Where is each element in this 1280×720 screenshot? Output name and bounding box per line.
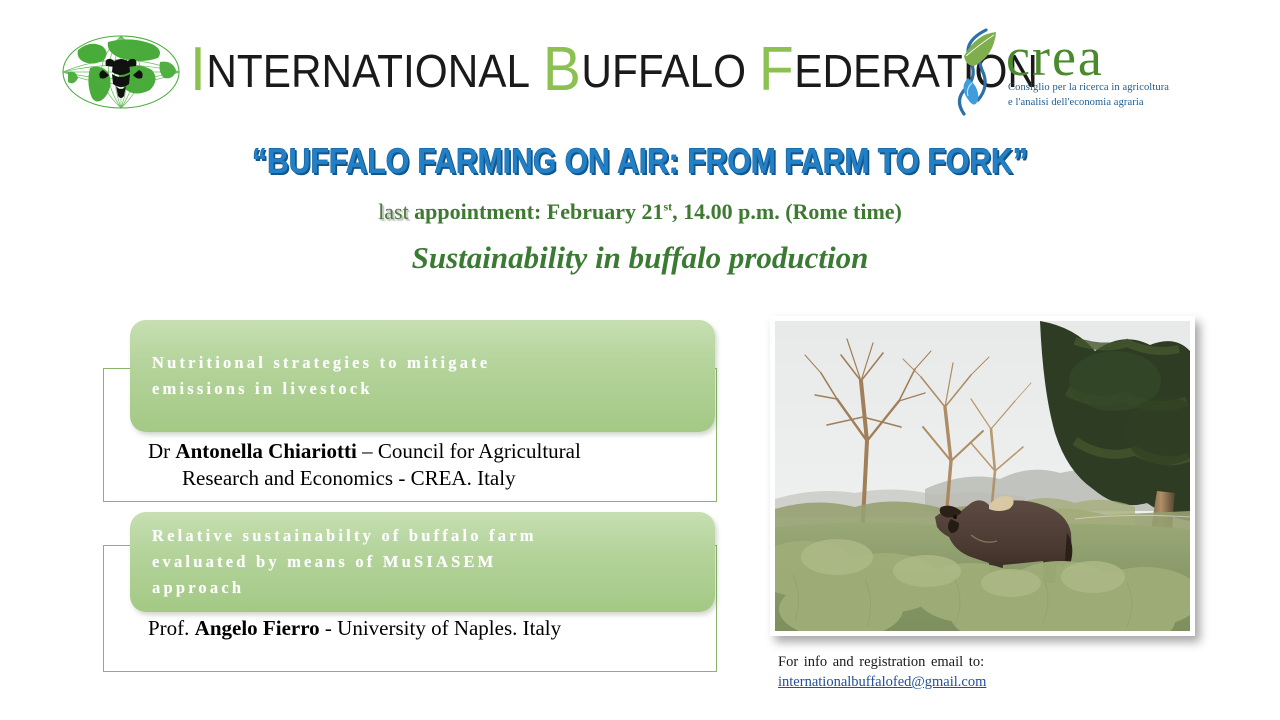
speaker-2-prefix: Prof.: [148, 616, 195, 640]
contact-info: For info and registration email to: inte…: [778, 652, 1198, 692]
subtitle-label: appointment:: [409, 199, 547, 224]
session-title: Sustainability in buffalo production: [0, 240, 1280, 276]
subtitle-date-suffix: st: [663, 200, 672, 214]
crea-tagline-line2: e l'analisi dell'economia agraria: [1008, 97, 1144, 108]
ibf-wordmark: INTERNATIONALBUFFALOFEDERATION: [190, 38, 1038, 102]
topic-1-line-2: emissions in livestock: [152, 376, 490, 402]
speaker-2-name: Angelo Fierro: [195, 616, 320, 640]
subtitle-date: February 21: [547, 199, 664, 224]
ibf-cap-b: B: [543, 35, 582, 104]
topic-1-line-1: Nutritional strategies to mitigate: [152, 350, 490, 376]
topic-2-line-2: evaluated by means of MuSIASEM: [152, 549, 537, 575]
crea-leaf-droplet-icon: [948, 26, 1010, 118]
contact-email-link[interactable]: internationalbuffalofed@gmail.com: [778, 672, 1198, 692]
buffalo-photo-frame: [770, 316, 1195, 636]
speaker-1: Dr Antonella Chiariotti – Council for Ag…: [148, 438, 708, 492]
topic-2-line-1: Relative sustainabilty of buffalo farm: [152, 523, 537, 549]
speaker-2-affiliation-line1: - University of Naples. Italy: [320, 616, 561, 640]
globe-buffalo-icon: [60, 28, 182, 116]
speaker-1-affiliation-line2: Research and Economics - CREA. Italy: [148, 465, 708, 492]
contact-label: For info and registration email to:: [778, 654, 984, 670]
subtitle-time: , 14.00 p.m. (Rome time): [672, 199, 902, 224]
ibf-word-buffalo: UFFALO: [581, 45, 746, 97]
appointment-subtitle: last appointment: February 21st, 14.00 p…: [0, 199, 1280, 225]
speaker-1-prefix: Dr: [148, 439, 175, 463]
crea-logo: crea Consiglio per la ricerca in agricol…: [948, 24, 1156, 120]
crea-wordmark: crea: [1006, 30, 1104, 84]
topic-2-line-3: approach: [152, 575, 537, 601]
subtitle-last-word: last: [378, 199, 409, 224]
ibf-cap-f: F: [759, 35, 794, 104]
crea-tagline-line1: Consiglio per la ricerca in agricoltura: [1008, 82, 1169, 93]
ibf-word-international: NTERNATIONAL: [206, 45, 530, 97]
ibf-cap-i: I: [190, 35, 206, 104]
speaker-1-name: Antonella Chiariotti: [175, 439, 356, 463]
topic-box-1: Nutritional strategies to mitigate emiss…: [130, 320, 715, 432]
buffalo-in-pasture-photo: [775, 321, 1190, 631]
header-band: INTERNATIONALBUFFALOFEDERATION crea Cons…: [0, 0, 1280, 130]
topic-box-2: Relative sustainabilty of buffalo farm e…: [130, 512, 715, 612]
page-title: “BUFFALO FARMING ON AIR: FROM FARM TO FO…: [90, 142, 1191, 182]
speaker-1-affiliation-line1: – Council for Agricultural: [357, 439, 581, 463]
speaker-2: Prof. Angelo Fierro - University of Napl…: [148, 615, 708, 642]
